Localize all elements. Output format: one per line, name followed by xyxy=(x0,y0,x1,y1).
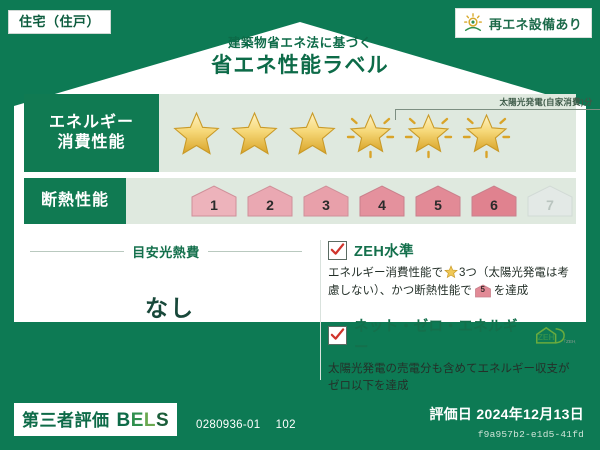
insulation-badge-value: 1 xyxy=(188,197,240,213)
star-solar-icon xyxy=(343,107,398,159)
zeh-standard-title-row: ZEH水準 xyxy=(328,240,576,261)
solar-sun-icon xyxy=(462,12,484,34)
zeh-standard-description: エネルギー消費性能で3つ（太陽光発電は考慮しない）、かつ断熱性能で5を達成 xyxy=(328,265,576,301)
bels-letter-b: B xyxy=(117,410,131,431)
net-zero-title-row: ネット・ゼロ・エネルギー ZEH 『ZEH』 xyxy=(328,315,576,357)
insulation-badge-value: 3 xyxy=(300,197,352,213)
heading-title: 省エネ性能ラベル xyxy=(0,54,600,78)
label-footer: 第三者評価 BELS 0280936-01 102 評価日 2024年12月13… xyxy=(0,396,600,450)
insulation-performance-row: 断熱性能 1 2 3 xyxy=(24,178,576,224)
document-hash: f9a957b2-e1d5-41fd xyxy=(478,429,584,440)
checkbox-checked-icon[interactable] xyxy=(328,241,347,260)
utility-cost-value: なし xyxy=(24,289,316,323)
zeh-house-logo-icon: ZEH 『ZEH』 xyxy=(533,325,576,347)
renewable-badge-label: 再エネ設備あり xyxy=(489,14,582,33)
star-solar-icon xyxy=(459,107,514,159)
insulation-badge: 3 xyxy=(300,184,352,218)
insulation-badge-value: 5 xyxy=(412,197,464,213)
bels-letter-l: L xyxy=(144,410,156,431)
star-rating xyxy=(159,107,514,159)
energy-performance-label: 住宅（住戸） 再エネ設備あり 建築物省エネ法に基づく 省エネ性能ラベル xyxy=(0,0,600,450)
checkbox-checked-icon[interactable] xyxy=(328,326,347,345)
utility-cost-block: 目安光熱費 なし xyxy=(24,234,316,386)
insulation-level-badges: 1 2 3 4 5 xyxy=(126,184,576,218)
energy-performance-row: エネルギー消費性能 太陽光発電(自家消費)分 xyxy=(24,94,576,172)
net-zero-title: ネット・ゼロ・エネルギー xyxy=(354,315,523,357)
insulation-badge: 4 xyxy=(356,184,408,218)
insulation-label-key: 断熱性能 xyxy=(24,178,126,224)
insulation-badge-value: 4 xyxy=(356,197,408,213)
star-solar-icon xyxy=(401,107,456,159)
svg-text:ZEH: ZEH xyxy=(537,332,554,342)
insulation-badge-value: 6 xyxy=(468,197,520,213)
third-party-evaluation-label: 第三者評価 xyxy=(22,406,110,431)
insulation-badge-value: 7 xyxy=(524,197,576,213)
star-icon xyxy=(227,107,282,159)
net-zero-description: 太陽光発電の売電分も含めてエネルギー収支がゼロ以下を達成 xyxy=(328,361,576,397)
zeh-standard-check: ZEH水準 エネルギー消費性能で3つ（太陽光発電は考慮しない）、かつ断熱性能で5… xyxy=(328,240,576,301)
rule-left xyxy=(30,251,124,252)
insulation-badge: 2 xyxy=(244,184,296,218)
renewable-equipment-badge: 再エネ設備あり xyxy=(455,8,592,38)
bels-letter-e: E xyxy=(131,410,144,431)
bels-letter-s: S xyxy=(156,410,169,431)
label-heading: 建築物省エネ法に基づく 省エネ性能ラベル xyxy=(0,36,600,78)
rule-right xyxy=(208,251,302,252)
zeh-standard-title: ZEH水準 xyxy=(354,240,414,261)
insulation-badge-inline-value: 5 xyxy=(474,284,492,296)
evaluation-date: 評価日 2024年12月13日 xyxy=(429,404,584,424)
category-tag: 住宅（住戸） xyxy=(8,10,111,34)
zeh-desc-part1: エネルギー消費性能で xyxy=(328,267,443,279)
insulation-value: 1 2 3 4 5 xyxy=(126,178,576,224)
utility-cost-heading: 目安光熱費 xyxy=(30,242,302,261)
bels-brand-block: 第三者評価 BELS xyxy=(14,403,177,436)
svg-text:『ZEH』: 『ZEH』 xyxy=(561,338,576,345)
star-icon xyxy=(169,107,224,159)
zeh-desc-part3: を達成 xyxy=(494,285,529,297)
star-icon xyxy=(444,265,458,279)
bels-wordmark: BELS xyxy=(117,410,170,432)
heading-subtitle: 建築物省エネ法に基づく xyxy=(0,36,600,51)
label-card: エネルギー消費性能 太陽光発電(自家消費)分 xyxy=(14,86,586,396)
energy-performance-label-key: エネルギー消費性能 xyxy=(24,94,159,172)
criteria-block: ZEH水準 エネルギー消費性能で3つ（太陽光発電は考慮しない）、かつ断熱性能で5… xyxy=(316,234,576,386)
lower-section: 目安光熱費 なし ZEH水準 エネルギー消費性能で3つ（太陽光発電は考慮しない）… xyxy=(24,234,576,386)
net-zero-energy-check: ネット・ゼロ・エネルギー ZEH 『ZEH』 太陽光発電の売電分も含めてエネルギ… xyxy=(328,315,576,397)
bels-registration-id: 0280936-01 102 xyxy=(196,416,296,432)
insulation-badge: 6 xyxy=(468,184,520,218)
insulation-badge-value: 2 xyxy=(244,197,296,213)
energy-performance-value: 太陽光発電(自家消費)分 xyxy=(159,94,576,172)
insulation-badge-inactive: 7 xyxy=(524,184,576,218)
insulation-badge: 5 xyxy=(412,184,464,218)
star-icon xyxy=(285,107,340,159)
insulation-badge-inline: 5 xyxy=(474,284,492,298)
insulation-badge: 1 xyxy=(188,184,240,218)
utility-cost-title: 目安光熱費 xyxy=(132,242,200,261)
